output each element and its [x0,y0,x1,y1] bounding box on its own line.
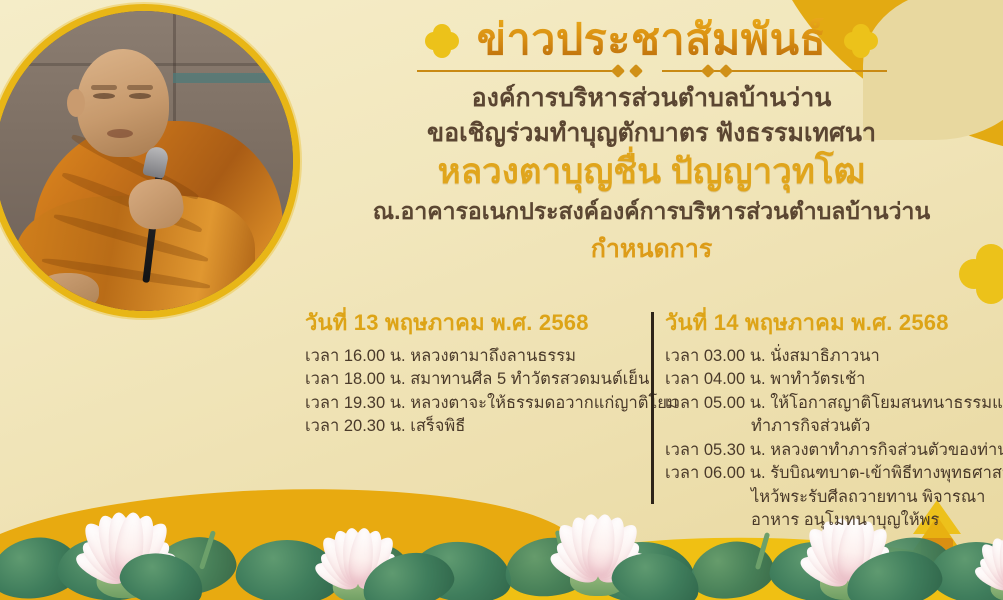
monk-portrait-frame [0,4,300,318]
schedule-entry-continuation: อาหาร อนุโมทนาบุญให้พร [665,509,995,532]
invitation-text: ขอเชิญร่วมทำบุญตักบาตร ฟังธรรมเทศนา [300,117,1003,149]
schedule-entry: เวลา 16.00 น. หลวงตามาถึงลานธรรม [305,345,645,368]
page-title: ข่าวประชาสัมพันธ์ [477,18,827,63]
schedule-entry: เวลา 05.00 น. ให้โอกาสญาติโยมสนทนาธรรมแล… [665,392,995,415]
poster-canvas: ข่าวประชาสัมพันธ์ องค์การบริหารส่วนตำบลบ… [0,0,1003,600]
schedule-entry: เวลา 06.00 น. รับบิณฑบาต-เข้าพิธีทางพุทธ… [665,462,995,485]
schedule-heading: กำหนดการ [300,229,1003,269]
monk-brow [127,85,153,90]
monk-name: หลวงตาบุญชื่น ปัญญาวุทโฒ [300,151,1003,194]
monk-brow [91,85,117,90]
monk-eye [93,93,115,99]
title-row: ข่าวประชาสัมพันธ์ [300,18,1003,63]
schedule-entry: เวลา 19.30 น. หลวงตาจะให้ธรรมดอวากแก่ญาต… [305,392,645,415]
column-divider [651,312,654,504]
schedule-entry-continuation: ไหว้พระรับศีลถวายทาน พิจารณา [665,486,995,509]
schedule-list-day1: เวลา 16.00 น. หลวงตามาถึงลานธรรมเวลา 18.… [305,345,645,439]
quatrefoil-ornament-icon [844,24,878,58]
schedule-entry-continuation: ทำภารกิจส่วนตัว [665,415,995,438]
monk-mouth [107,129,133,138]
schedule-date-day1: วันที่ 13 พฤษภาคม พ.ศ. 2568 [305,305,645,340]
monk-head [77,49,169,157]
venue-text: ณ.อาคารอเนกประสงค์องค์การบริหารส่วนตำบลบ… [300,197,1003,226]
monk-ear [67,89,85,117]
schedule-entry: เวลา 20.30 น. เสร็จพิธี [305,415,645,438]
schedule-date-day2: วันที่ 14 พฤษภาคม พ.ศ. 2568 [665,305,995,340]
schedule-entry: เวลา 05.30 น. หลวงตาทำภารกิจส่วนตัวของท่… [665,439,995,462]
schedule-entry: เวลา 03.00 น. นั่งสมาธิภาวนา [665,345,995,368]
quatrefoil-ornament-icon [425,24,459,58]
monk-portrait-image [0,11,293,311]
wall-teal-strip [173,73,293,83]
schedule-section: วันที่ 13 พฤษภาคม พ.ศ. 2568 เวลา 16.00 น… [0,305,1003,520]
monk-eye [129,93,151,99]
clover-ornament-icon [963,246,1003,302]
schedule-column-day1: วันที่ 13 พฤษภาคม พ.ศ. 2568 เวลา 16.00 น… [305,305,645,439]
schedule-list-day2: เวลา 03.00 น. นั่งสมาธิภาวนาเวลา 04.00 น… [665,345,995,532]
poster-header: ข่าวประชาสัมพันธ์ องค์การบริหารส่วนตำบลบ… [300,18,1003,269]
schedule-column-day2: วันที่ 14 พฤษภาคม พ.ศ. 2568 เวลา 03.00 น… [665,305,995,532]
organization-name: องค์การบริหารส่วนตำบลบ้านว่าน [300,82,1003,114]
schedule-entry: เวลา 18.00 น. สมาทานศีล 5 ทำวัตรสวดมนต์เ… [305,368,645,391]
title-divider-ornament [417,64,887,78]
schedule-entry: เวลา 04.00 น. พาทำวัตรเช้า [665,368,995,391]
